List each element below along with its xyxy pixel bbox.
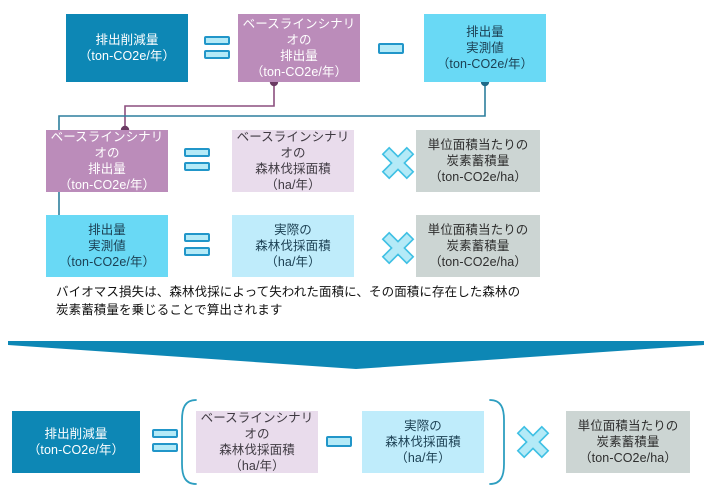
diagram-canvas: 排出削減量 （ton-CO2e/年） ベースラインシナリオの 排出量 （ton-… bbox=[0, 0, 712, 490]
bottom-emission-reduction-box: 排出削減量 （ton-CO2e/年） bbox=[12, 411, 140, 473]
bottom-baseline-logging-area-box: ベースラインシナリオの 森林伐採面積 （ha/年） bbox=[196, 411, 318, 473]
multiply-icon-bottom bbox=[516, 425, 550, 459]
minus-icon-bottom bbox=[326, 436, 352, 447]
bottom-actual-logging-area-box: 実際の 森林伐採面積 （ha/年） bbox=[362, 411, 484, 473]
bracket-open-icon bbox=[176, 398, 198, 486]
bottom-carbon-stock-box: 単位面積当たりの 炭素蓄積量 （ton-CO2e/ha） bbox=[566, 411, 690, 473]
equals-icon-bottom bbox=[152, 429, 178, 455]
bracket-close-icon bbox=[488, 398, 510, 486]
